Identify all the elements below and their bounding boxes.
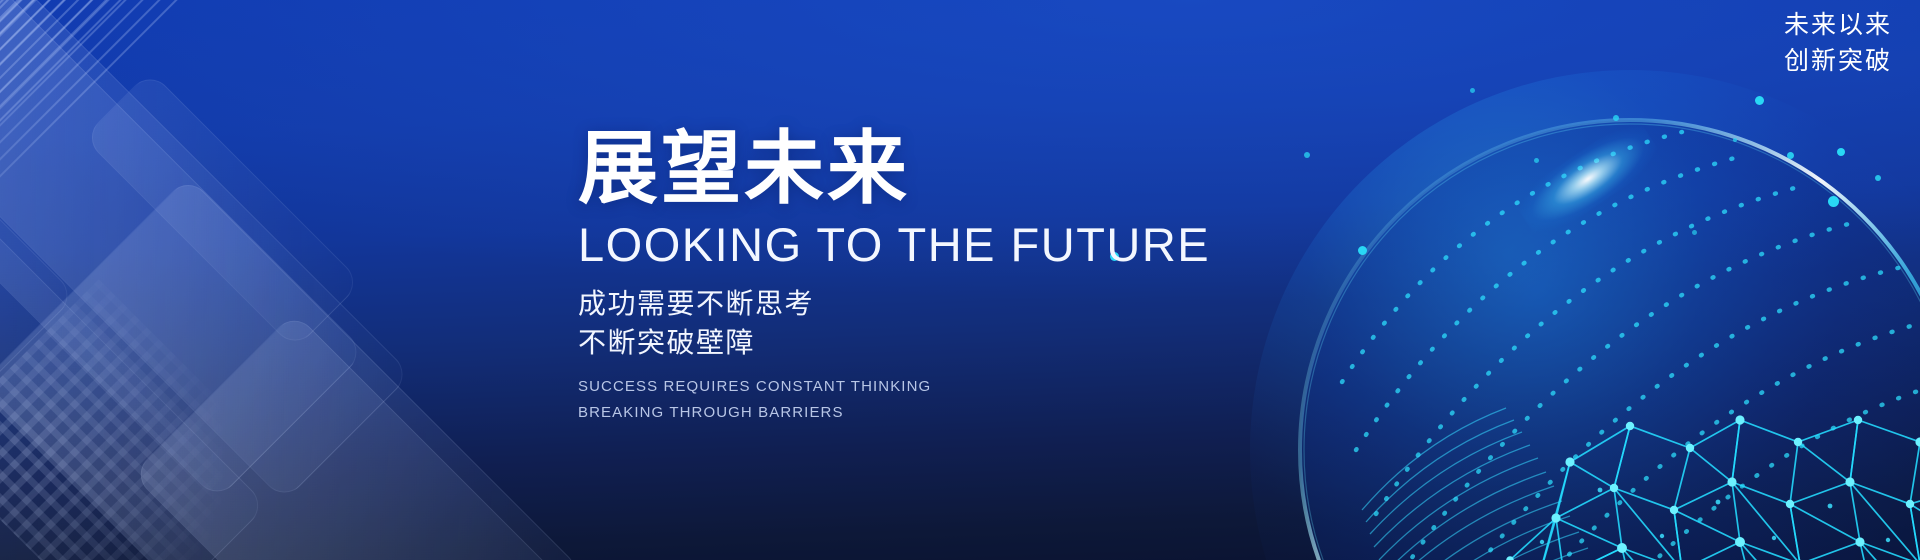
corner-slogan-line-1: 未来以来 [1784, 8, 1892, 44]
subtitle-cn-block: 成功需要不断思考 不断突破壁障 [578, 285, 1138, 362]
corner-slogan-line-2: 创新突破 [1784, 44, 1892, 80]
subtitle-en-line-2: BREAKING THROUGH BARRIERS [578, 400, 1138, 426]
globe-mesh-svg [1270, 90, 1920, 560]
subtitle-en-line-1: SUCCESS REQUIRES CONSTANT THINKING [578, 374, 1138, 400]
page-title-en: LOOKING TO THE FUTURE [578, 220, 1138, 269]
hero-banner: 展望未来 LOOKING TO THE FUTURE 成功需要不断思考 不断突破… [0, 0, 1920, 560]
globe-atmosphere-glow [1250, 70, 1920, 560]
subtitle-cn-line-2: 不断突破壁障 [578, 324, 1138, 363]
subtitle-en-block: SUCCESS REQUIRES CONSTANT THINKING BREAK… [578, 374, 1138, 426]
headline-block: 展望未来 LOOKING TO THE FUTURE 成功需要不断思考 不断突破… [578, 128, 1138, 426]
wireframe-globe [1270, 90, 1920, 560]
corner-slogan: 未来以来 创新突破 [1784, 8, 1892, 79]
page-title: 展望未来 [578, 128, 1138, 210]
subtitle-cn-line-1: 成功需要不断思考 [578, 285, 1138, 324]
globe-rim-highlight [1511, 115, 1666, 244]
left-geometry-decor [0, 0, 640, 560]
